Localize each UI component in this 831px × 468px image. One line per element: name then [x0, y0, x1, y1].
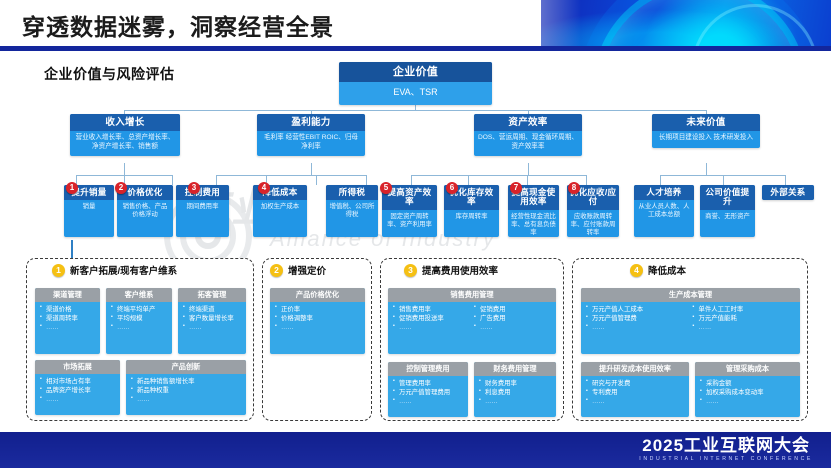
connector: [723, 175, 724, 185]
tree-node-future-value[interactable]: 未来价值 长期项目建设投入 技术研发投入: [652, 114, 760, 148]
list-item: 促销费用: [474, 305, 552, 314]
list-item: 终端渠道: [183, 305, 242, 314]
list-item: 相对市场占有率: [40, 377, 116, 386]
card-body: 采购金额 加权采购成本变动率 ……: [695, 376, 800, 410]
card-body: 新品种销售额增长率 新品种权重 ……: [126, 374, 246, 408]
node-title: 所得税: [326, 185, 378, 200]
list-item: 终端平均单产: [111, 305, 168, 314]
card-list-col-2: 促销费用 广告费用 ……: [474, 305, 552, 333]
list-item: ……: [586, 397, 685, 406]
badge-5: 5: [380, 182, 392, 194]
node-title: 公司价值提升: [700, 185, 755, 210]
list-item: ……: [40, 395, 116, 404]
card-control-admin-expenses[interactable]: 控制管理费用 管理费用率 万元产值管理费用 ……: [388, 362, 468, 417]
card-product-price-optimization[interactable]: 产品价格优化 正价率 价格调整率 ……: [270, 288, 365, 354]
node-title: 盈利能力: [257, 114, 365, 131]
panel-1-header: 1 新客户拓展/现有客户维系: [52, 263, 177, 277]
node-title: 人才培养: [634, 185, 694, 200]
connector: [172, 175, 173, 185]
list-item: ……: [111, 323, 168, 332]
list-item: 专利费用: [586, 388, 685, 397]
card-header: 渠道管理: [35, 288, 100, 302]
panel-title: 降低成本: [648, 263, 686, 277]
node-body: 应收账款周转率、应付账款周转率: [567, 210, 619, 237]
card-body: 正价率 价格调整率 ……: [270, 302, 365, 336]
badge-6: 6: [446, 182, 458, 194]
connector: [468, 175, 469, 185]
list-item: 平均规模: [111, 314, 168, 323]
card-body: 管理费用率 万元产值管理费用 ……: [388, 376, 468, 410]
panel-number-badge: 4: [630, 264, 643, 277]
header-divider: [0, 46, 831, 51]
node-body: 商誉、无形资产: [700, 210, 755, 225]
tree-node-asset-efficiency[interactable]: 资产效率 DOS、营运周期、现金循环周期、资产效率率: [474, 114, 582, 156]
tree-node-company-value-uplift[interactable]: 公司价值提升 商誉、无形资产: [700, 185, 755, 237]
page-title: 穿透数据迷雾，洞察经营全景: [22, 8, 334, 42]
slide-root: 穿透数据迷雾，洞察经营全景 企业价值与风险评估 工业 Alliance of I…: [0, 0, 831, 468]
header-decoration-image: [541, 0, 831, 48]
panel-2-header: 2 增强定价: [270, 263, 326, 277]
card-body: 终端平均单产 平均规模 ……: [106, 302, 172, 336]
card-header: 提升研发成本使用效率: [581, 362, 689, 376]
card-list: 管理费用率 万元产值管理费用 ……: [393, 379, 464, 407]
node-body: 期间费用率: [176, 200, 229, 215]
connector: [366, 175, 367, 185]
card-body: 渠道价格 渠道周转率 ……: [35, 302, 100, 336]
connector: [124, 163, 125, 175]
card-list: 相对市场占有率 品牌资产增长率 ……: [40, 377, 116, 405]
section-title: 企业价值与风险评估: [44, 64, 175, 84]
panel-4-header: 4 降低成本: [630, 263, 686, 277]
node-body: 销量: [64, 200, 114, 215]
list-item: 价格调整率: [275, 314, 361, 323]
connector: [785, 175, 786, 185]
tree-node-external-relations[interactable]: 外部关系: [762, 185, 814, 200]
card-body: 相对市场占有率 品牌资产增长率 ……: [35, 374, 120, 408]
tree-node-profitability[interactable]: 盈利能力 毛利率 经营性EBIT ROIC、归母净利率: [257, 114, 365, 156]
connector: [124, 110, 706, 111]
card-header: 拓客管理: [178, 288, 246, 302]
badge-8: 8: [568, 182, 580, 194]
node-body: 库存周转率: [444, 210, 499, 225]
list-item: ……: [700, 397, 796, 406]
card-product-innovation[interactable]: 产品创新 新品种销售额增长率 新品种权重 ……: [126, 360, 246, 415]
header-fade: [461, 0, 581, 48]
tree-node-price-optimization[interactable]: 价格优化 销售价格、产品价格浮动: [117, 185, 173, 237]
node-body: 加权生产成本: [253, 200, 307, 215]
slide-footer: 2025工业互联网大会 INDUSTRIAL INTERNET CONFEREN…: [0, 432, 831, 468]
panel-title: 新客户拓展/现有客户维系: [70, 263, 177, 277]
list-item: 财务费用率: [479, 379, 552, 388]
node-body: EVA、TSR: [339, 82, 492, 105]
card-header: 产品价格优化: [270, 288, 365, 302]
list-item: ……: [474, 323, 552, 332]
card-header: 财务费用管理: [474, 362, 556, 376]
card-body: 研究与开发费 专利费用 ……: [581, 376, 689, 410]
list-item: ……: [40, 323, 96, 332]
connector: [311, 163, 312, 175]
panel-number-badge: 3: [404, 264, 417, 277]
card-body: 终端渠道 客户数量增长率 ……: [178, 302, 246, 336]
card-sales-expense-management[interactable]: 销售费用管理 销售费用率 促销费用投送率 …… 促销费用 广告费用 ……: [388, 288, 556, 354]
card-header: 销售费用管理: [388, 288, 556, 302]
badge-2: 2: [115, 182, 127, 194]
list-item: 万元产值能耗: [693, 314, 797, 323]
badge-4: 4: [258, 182, 270, 194]
list-item: 品牌资产增长率: [40, 386, 116, 395]
list-item: 客户数量增长率: [183, 314, 242, 323]
node-body: 经营性现金流比率、总有息负债率: [508, 210, 559, 237]
card-customer-retention[interactable]: 客户维系 终端平均单产 平均规模 ……: [106, 288, 172, 354]
connector: [706, 163, 707, 175]
card-header: 控制管理费用: [388, 362, 468, 376]
list-item: ……: [479, 397, 552, 406]
conference-name-cn: 2025工业互联网大会: [639, 437, 813, 454]
badge-3: 3: [188, 182, 200, 194]
card-list: 终端渠道 客户数量增长率 ……: [183, 305, 242, 333]
list-item: 广告费用: [474, 314, 552, 323]
tree-node-revenue-growth[interactable]: 收入增长 营业收入增长率、总资产增长率、净资产增长率、销售额: [70, 114, 180, 156]
connector: [316, 175, 317, 185]
panel-number-badge: 1: [52, 264, 65, 277]
card-header: 管理采购成本: [695, 362, 800, 376]
card-list: 采购金额 加权采购成本变动率 ……: [700, 379, 796, 407]
card-list: 正价率 价格调整率 ……: [275, 305, 361, 333]
node-body: DOS、营运周期、现金循环周期、资产效率率: [474, 131, 582, 155]
connector: [586, 175, 587, 185]
card-list: 财务费用率 利息费用 ……: [479, 379, 552, 407]
card-header: 客户维系: [106, 288, 172, 302]
badge-1: 1: [66, 182, 78, 194]
tree-node-control-expenses[interactable]: 控制费用 期间费用率: [176, 185, 229, 237]
connector: [660, 175, 661, 185]
list-item: 万元产值管理费用: [393, 388, 464, 397]
connector: [411, 175, 412, 185]
card-list-col-1: 万元产值人工成本 万元产值管理费 ……: [586, 305, 690, 333]
card-acquisition-management[interactable]: 拓客管理 终端渠道 客户数量增长率 ……: [178, 288, 246, 354]
node-title: 企业价值: [339, 62, 492, 82]
node-body: 销售价格、产品价格浮动: [117, 200, 173, 223]
list-item: ……: [393, 397, 464, 406]
tree-node-income-tax[interactable]: 所得税 增值税、公司所得税: [326, 185, 378, 237]
list-item: 管理费用率: [393, 379, 464, 388]
node-title: 收入增长: [70, 114, 180, 131]
card-body: 财务费用率 利息费用 ……: [474, 376, 556, 410]
list-item: 销售费用率: [393, 305, 471, 314]
list-item: 万元产值人工成本: [586, 305, 690, 314]
card-production-cost-management[interactable]: 生产成本管理 万元产值人工成本 万元产值管理费 …… 单件人工工时率 万元产值能…: [581, 288, 800, 354]
list-item: 促销费用投送率: [393, 314, 471, 323]
list-item: 新品种销售额增长率: [131, 377, 242, 386]
node-body: 固定资产周转率、资产利用率: [382, 210, 437, 233]
list-item: 单件人工工时率: [693, 305, 797, 314]
list-item: 正价率: [275, 305, 361, 314]
list-item: ……: [586, 323, 690, 332]
card-rd-cost-efficiency[interactable]: 提升研发成本使用效率 研究与开发费 专利费用 ……: [581, 362, 689, 417]
list-item: 万元产值管理费: [586, 314, 690, 323]
card-financial-expense-management[interactable]: 财务费用管理 财务费用率 利息费用 ……: [474, 362, 556, 417]
card-list: 研究与开发费 专利费用 ……: [586, 379, 685, 407]
card-body: 万元产值人工成本 万元产值管理费 …… 单件人工工时率 万元产值能耗 ……: [581, 302, 800, 336]
panel-title: 增强定价: [288, 263, 326, 277]
connector: [527, 175, 528, 185]
conference-name-en: INDUSTRIAL INTERNET CONFERENCE: [639, 456, 813, 462]
tree-node-asset-efficiency-improve[interactable]: 提高资产效率 固定资产周转率、资产利用率: [382, 185, 437, 237]
list-item: ……: [183, 323, 242, 332]
card-list-col-2: 单件人工工时率 万元产值能耗 ……: [693, 305, 797, 333]
card-channel-management[interactable]: 渠道管理 渠道价格 渠道周转率 ……: [35, 288, 100, 354]
list-item: ……: [131, 395, 242, 404]
node-title: 资产效率: [474, 114, 582, 131]
card-list: 新品种销售额增长率 新品种权重 ……: [131, 377, 242, 405]
node-title: 控制费用: [176, 185, 229, 200]
connector: [216, 175, 366, 176]
node-body: 增值税、公司所得税: [326, 200, 378, 223]
list-item: ……: [693, 323, 797, 332]
list-item: 新品种权重: [131, 386, 242, 395]
tree-node-root[interactable]: 企业价值 EVA、TSR: [339, 62, 492, 105]
card-body: 销售费用率 促销费用投送率 …… 促销费用 广告费用 ……: [388, 302, 556, 336]
list-item: 研究与开发费: [586, 379, 685, 388]
node-body: 营业收入增长率、总资产增长率、净资产增长率、销售额: [70, 131, 180, 155]
connector: [528, 163, 529, 175]
connector: [216, 175, 217, 185]
node-title: 外部关系: [762, 185, 814, 200]
card-header: 生产成本管理: [581, 288, 800, 302]
node-title: 未来价值: [652, 114, 760, 131]
connector: [411, 175, 586, 176]
card-list-col-1: 销售费用率 促销费用投送率 ……: [393, 305, 471, 333]
list-item: 利息费用: [479, 388, 552, 397]
panel-3-header: 3 提高费用使用效率: [404, 263, 498, 277]
list-item: ……: [393, 323, 471, 332]
panel-title: 提高费用使用效率: [422, 263, 498, 277]
panel-number-badge: 2: [270, 264, 283, 277]
card-market-expansion[interactable]: 市场拓展 相对市场占有率 品牌资产增长率 ……: [35, 360, 120, 415]
tree-node-talent-development[interactable]: 人才培养 从业人员人数、人工成本总额: [634, 185, 694, 237]
card-list: 终端平均单产 平均规模 ……: [111, 305, 168, 333]
node-body: 长期项目建设投入 技术研发投入: [652, 131, 760, 147]
node-body: 从业人员人数、人工成本总额: [634, 200, 694, 223]
card-header: 市场拓展: [35, 360, 120, 374]
card-procurement-cost-management[interactable]: 管理采购成本 采购金额 加权采购成本变动率 ……: [695, 362, 800, 417]
badge-7: 7: [510, 182, 522, 194]
list-item: 加权采购成本变动率: [700, 388, 796, 397]
list-item: 采购金额: [700, 379, 796, 388]
list-item: 渠道价格: [40, 305, 96, 314]
list-item: 渠道周转率: [40, 314, 96, 323]
list-item: ……: [275, 323, 361, 332]
node-body: 毛利率 经营性EBIT ROIC、归母净利率: [257, 131, 365, 155]
conference-logo: 2025工业互联网大会 INDUSTRIAL INTERNET CONFEREN…: [639, 437, 813, 462]
card-list: 渠道价格 渠道周转率 ……: [40, 305, 96, 333]
card-header: 产品创新: [126, 360, 246, 374]
slide-header: 穿透数据迷雾，洞察经营全景: [0, 0, 831, 48]
